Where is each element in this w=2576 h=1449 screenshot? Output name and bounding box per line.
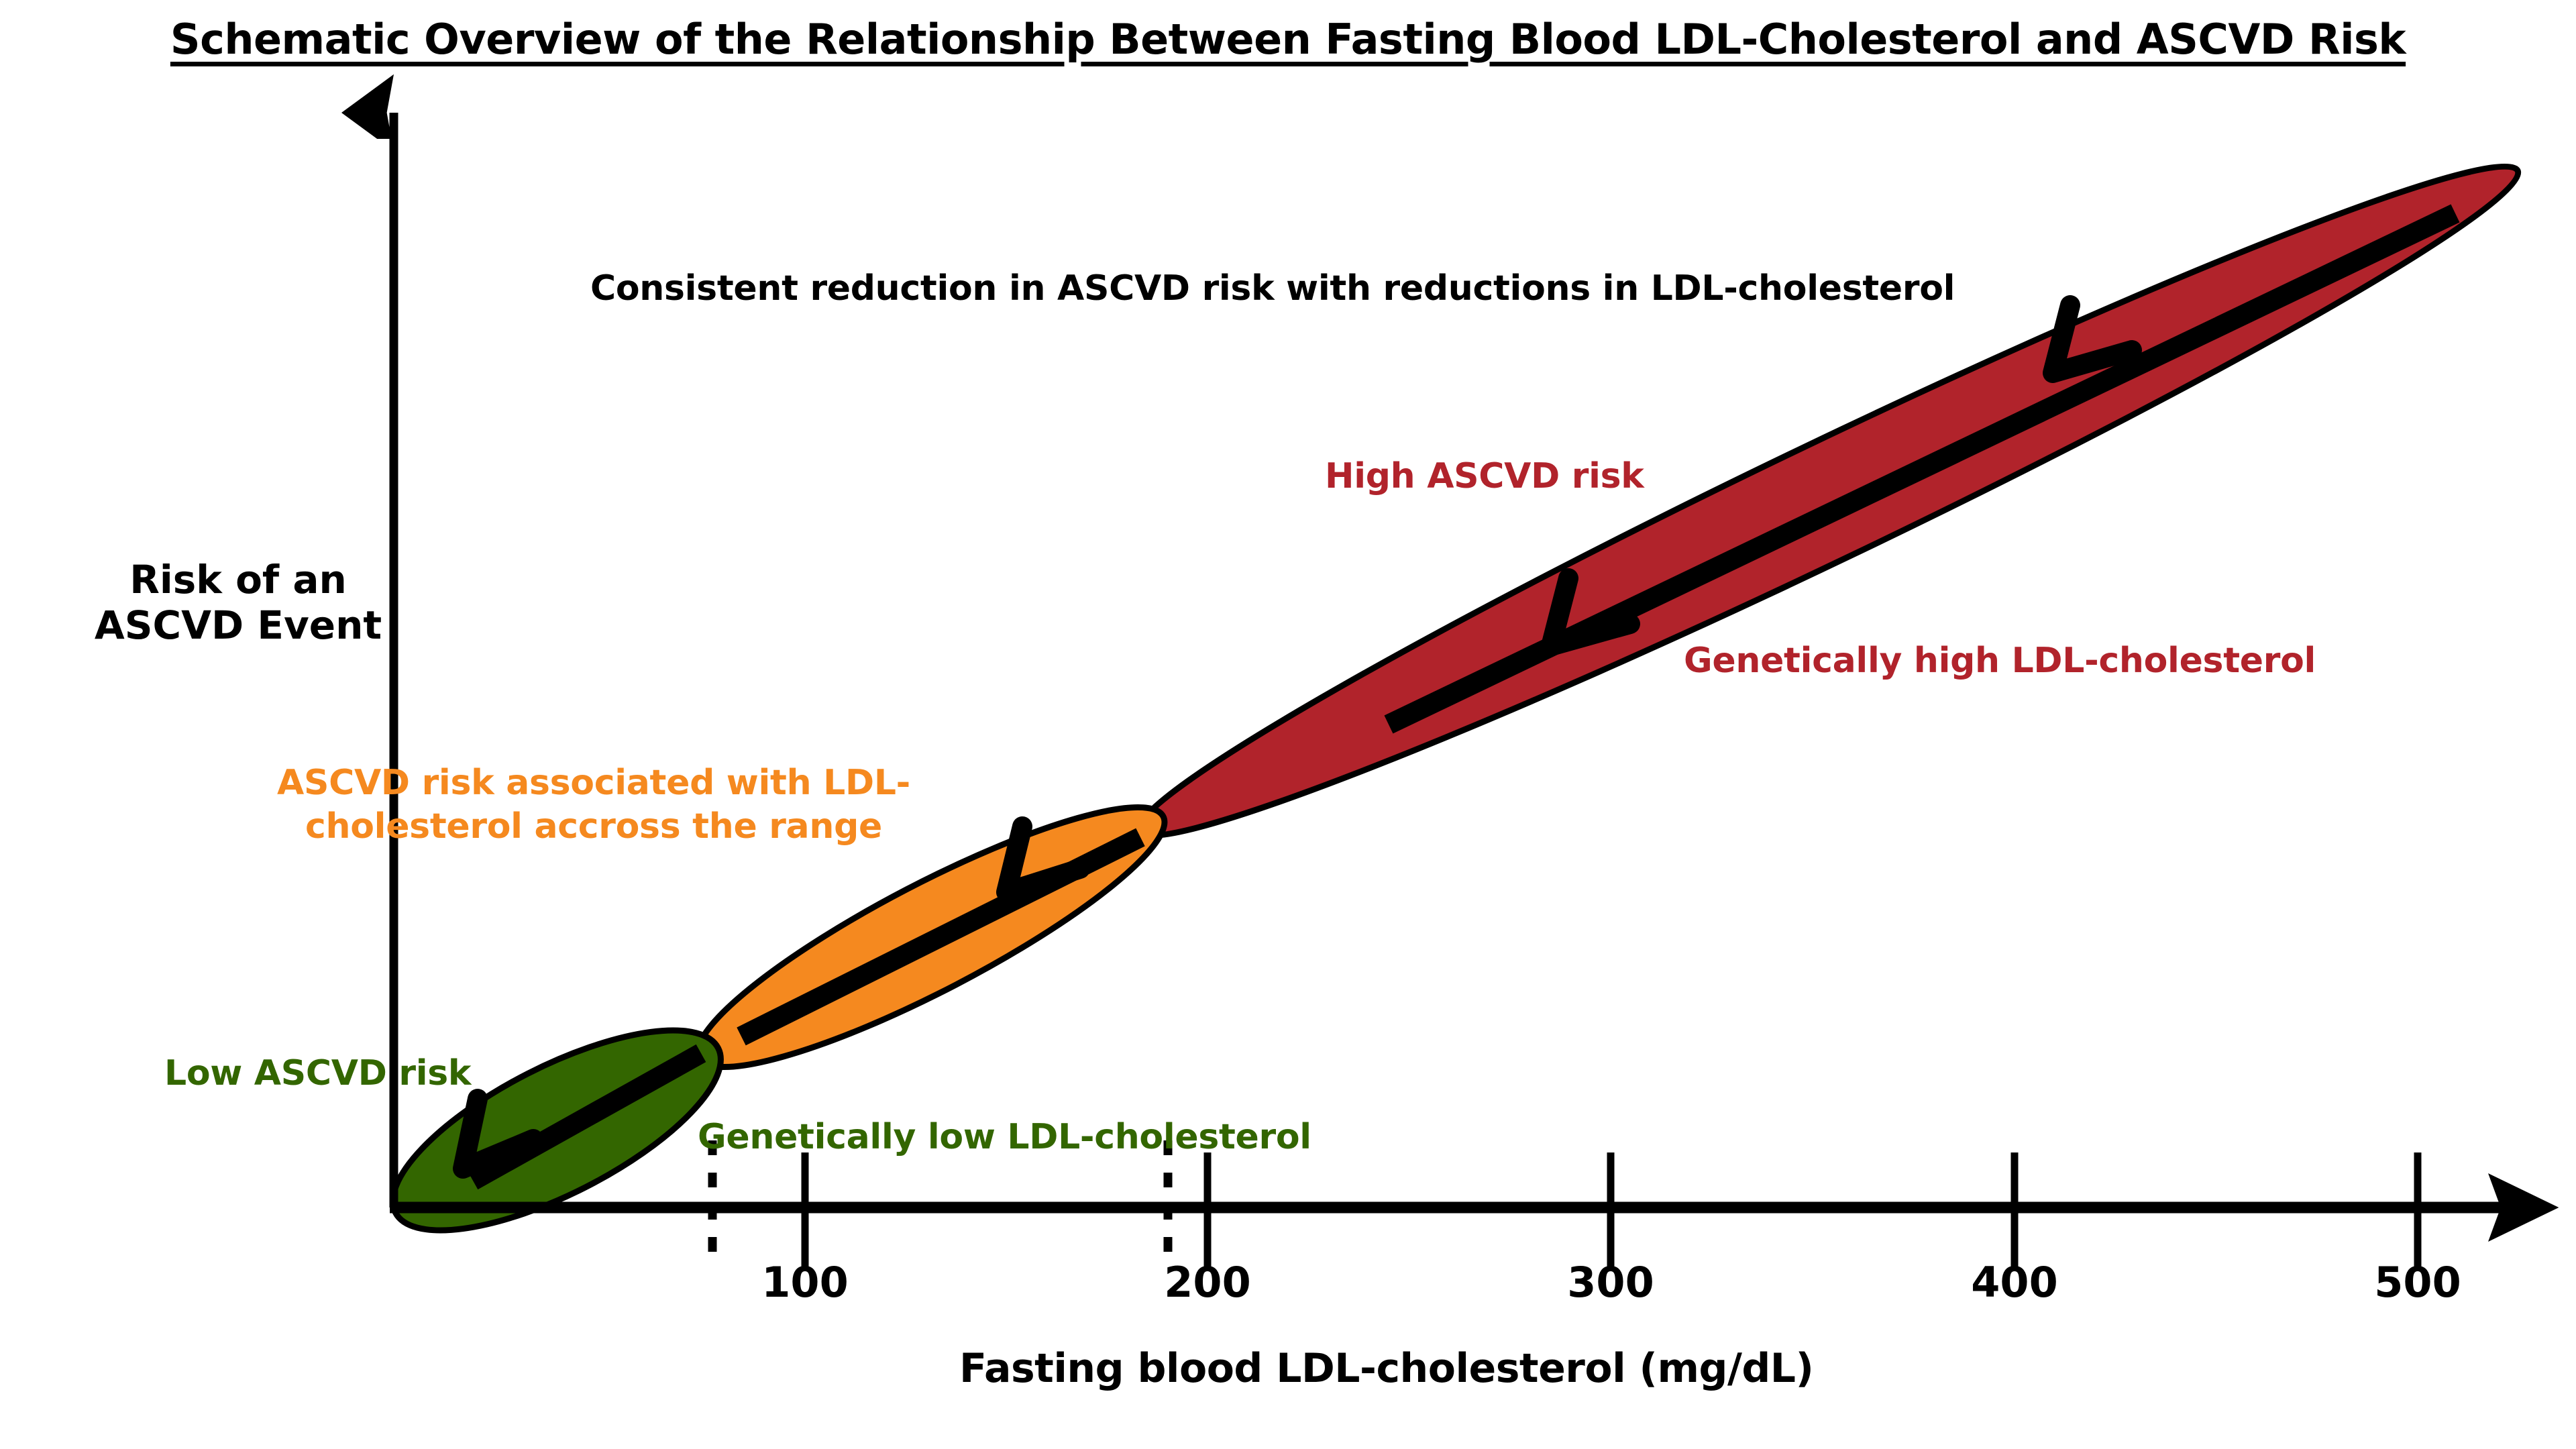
x-tick-label-200: 200 [1164,1258,1250,1307]
risk-band-high [1113,117,2543,885]
risk-band-low [366,991,747,1269]
annotation-low-ascvd-risk: Low ASCVD risk [164,1053,471,1093]
annotation-genetically-high-ldl: Genetically high LDL-cholesterol [1684,641,2316,681]
annotation-mid-range-risk: ASCVD risk associated with LDL-cholester… [215,761,973,849]
annotation-genetically-low-ldl: Genetically low LDL-cholesterol [698,1117,1311,1157]
page-title: Schematic Overview of the Relationship B… [170,15,2406,64]
x-axis-label: Fasting blood LDL-cholesterol (mg/dL) [959,1345,1813,1392]
x-tick-label-100: 100 [761,1258,848,1307]
annotation-high-ascvd-risk: High ASCVD risk [1325,456,1644,496]
x-tick-label-400: 400 [1971,1258,2057,1307]
annotation-consistent-reduction: Consistent reduction in ASCVD risk with … [590,268,1955,309]
reference-lines [712,1140,1168,1258]
figure-canvas: Schematic Overview of the Relationship B… [0,0,2576,1449]
y-axis-label: Risk of an ASCVD Event [80,557,396,649]
x-tick-label-500: 500 [2374,1258,2461,1307]
x-tick-label-300: 300 [1567,1258,1654,1307]
schematic-plot [0,0,2576,1449]
